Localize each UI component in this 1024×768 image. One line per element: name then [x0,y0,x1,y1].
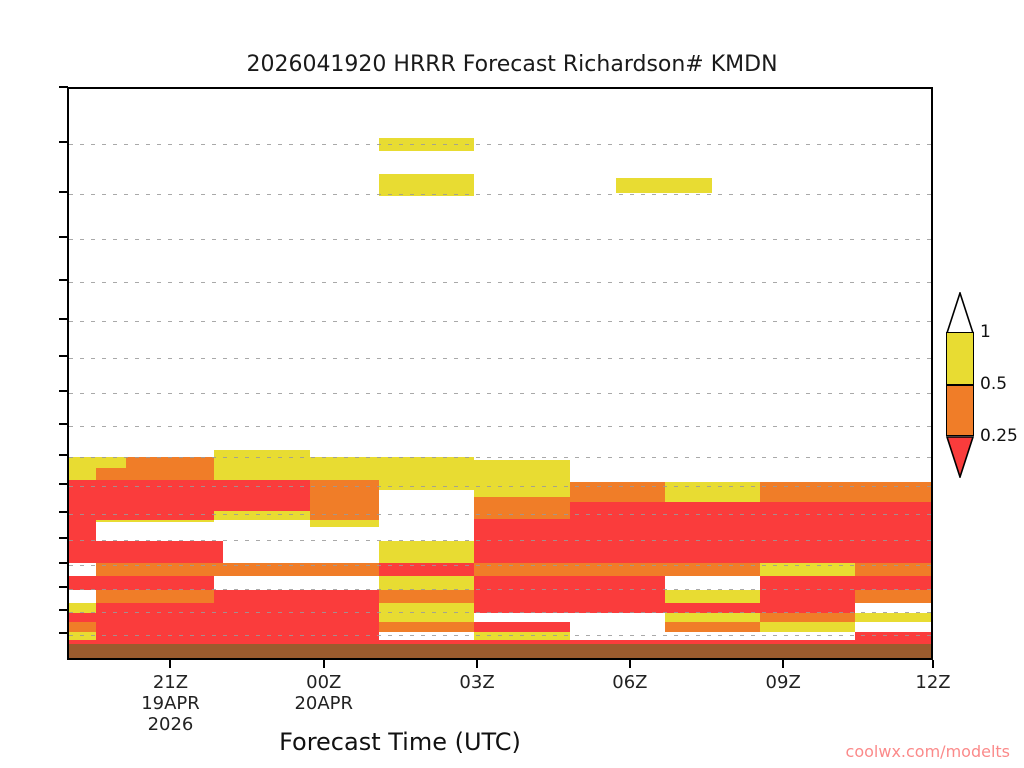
x-axis-tick-label: 12Z [915,672,950,693]
gridline-horizontal [69,565,931,566]
gridline-horizontal [69,144,931,145]
ground-surface-bar [69,644,931,658]
gridline-horizontal [69,239,931,240]
y-axis-tick-mark [59,454,68,456]
y-axis-tick-mark [59,141,68,143]
x-tick-line1: 03Z [459,672,494,693]
x-axis-tick-label: 09Z [766,672,801,693]
gridline-horizontal [69,486,931,487]
x-axis-tick-label: 03Z [459,672,494,693]
y-axis-tick-mark [59,423,68,425]
y-axis-tick-mark [59,279,68,281]
gridline-horizontal [69,426,931,427]
colorbar-tick-label: 0.5 [980,374,1007,394]
chart-title: 2026041920 HRRR Forecast Richardson# KMD… [0,52,1024,77]
gridline-horizontal [69,612,931,613]
y-axis-tick-mark [59,390,68,392]
x-axis-tick-mark [629,660,631,668]
colorbar-tick-label: 1 [980,322,991,342]
x-axis-tick-mark [782,660,784,668]
gridlines [69,89,931,658]
gridline-horizontal [69,457,931,458]
y-axis-tick-mark [59,86,68,88]
gridline-horizontal [69,589,931,590]
y-axis-tick-mark [59,562,68,564]
y-axis-tick-mark [59,586,68,588]
y-axis-tick-mark [59,191,68,193]
x-axis-tick-mark [169,660,171,668]
y-axis-tick-mark [59,632,68,634]
y-axis-tick-mark [59,318,68,320]
chart-page: 2026041920 HRRR Forecast Richardson# KMD… [0,0,1024,768]
x-axis-tick-mark [476,660,478,668]
x-tick-line1: 12Z [915,672,950,693]
y-axis-tick-mark [59,537,68,539]
y-axis-tick-mark [59,355,68,357]
gridline-horizontal [69,393,931,394]
colorbar-bottom-arrow [946,436,974,478]
plot-area [67,87,933,660]
site-watermark: coolwx.com/modelts [846,742,1010,761]
x-tick-line2: 19APR [141,693,200,714]
x-tick-line1: 06Z [612,672,647,693]
colorbar-segment [947,384,973,435]
x-axis-tick-label: 21Z19APR2026 [141,672,200,735]
gridline-horizontal [69,540,931,541]
x-axis-tick-label: 00Z20APR [294,672,353,714]
x-tick-line1: 09Z [766,672,801,693]
colorbar[interactable]: 10.50.25 [938,292,1024,480]
gridline-horizontal [69,282,931,283]
x-axis-tick-mark [323,660,325,668]
y-axis-tick-mark [59,483,68,485]
colorbar-up-arrow-icon [946,292,974,334]
x-tick-line1: 21Z [153,672,188,693]
colorbar-tick-label: 0.25 [980,426,1018,446]
x-axis-title: Forecast Time (UTC) [0,728,800,756]
y-axis-tick-mark [59,236,68,238]
gridline-horizontal [69,635,931,636]
colorbar-separator [947,384,973,386]
colorbar-down-arrow-icon [946,436,974,478]
gridline-horizontal [69,514,931,515]
colorbar-body [946,332,974,436]
gridline-horizontal [69,358,931,359]
x-tick-line2: 20APR [294,693,353,714]
colorbar-top-arrow [946,292,974,334]
y-axis-tick-mark [59,511,68,513]
gridline-horizontal [69,194,931,195]
x-axis-tick-label: 06Z [612,672,647,693]
y-axis-tick-mark [59,609,68,611]
x-axis-tick-mark [932,660,934,668]
x-tick-line1: 00Z [306,672,341,693]
gridline-horizontal [69,321,931,322]
colorbar-segment [947,333,973,384]
